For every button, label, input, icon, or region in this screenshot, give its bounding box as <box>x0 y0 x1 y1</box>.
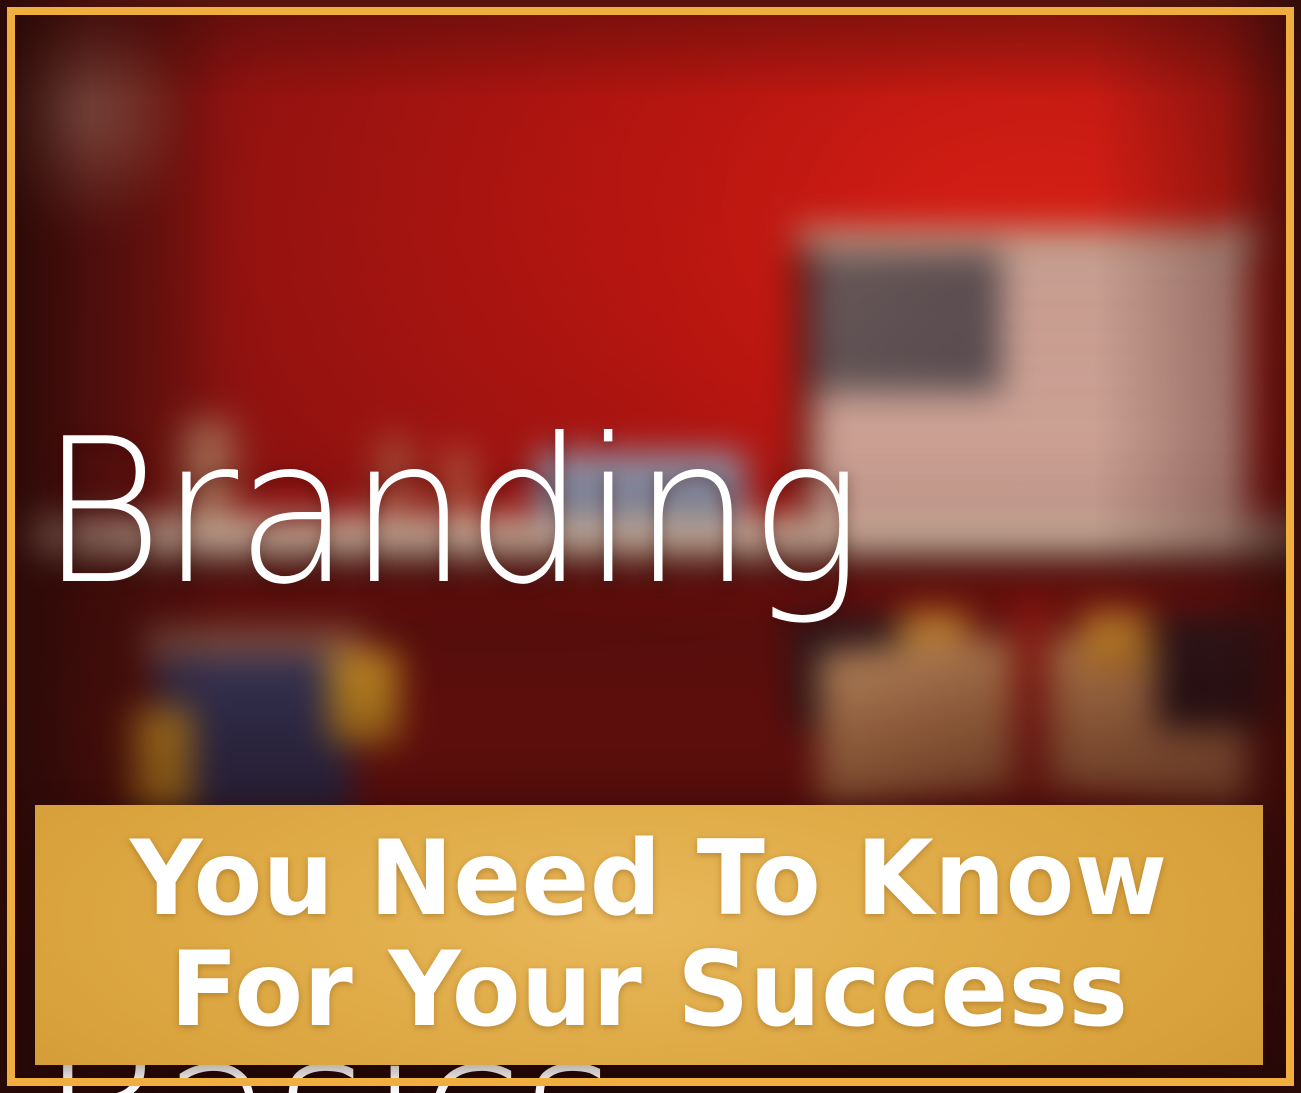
subtitle-line-2: For Your Success <box>170 935 1129 1046</box>
flag-finial <box>1229 222 1260 259</box>
crate-accent-right <box>1083 613 1151 670</box>
subtitle-banner: You Need To Know For Your Success <box>35 805 1263 1065</box>
title-line-1: Branding <box>40 414 860 612</box>
crate-divider-post <box>1013 604 1054 821</box>
crate-dark-right <box>1157 615 1272 729</box>
subtitle-line-1: You Need To Know <box>130 824 1167 935</box>
poster-canvas: Branding Basics You Need To Know For You… <box>0 0 1301 1093</box>
